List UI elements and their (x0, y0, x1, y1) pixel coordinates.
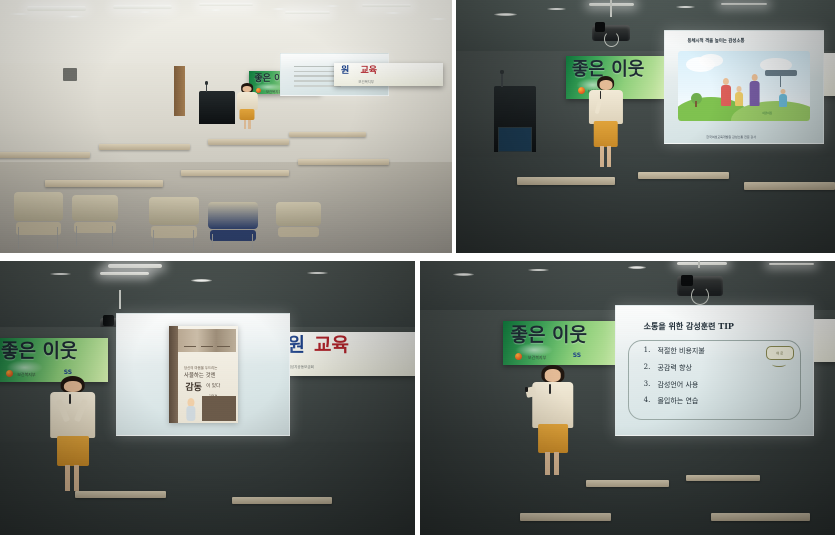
slide-title: 소통을 위한 감성훈련 TIP (644, 321, 734, 332)
chair (14, 192, 64, 248)
wall-speaker-icon (63, 68, 77, 81)
photo-panel-top-left: 좋은 이웃 보건복지부 원 교육 보건복지부 (0, 0, 452, 253)
banner-white-right: 원 교육 여성지공동모금회 (282, 332, 415, 376)
illustration-person (778, 89, 787, 107)
banner-green-left: 좋은 이웃 보건복지부 SS (503, 321, 628, 365)
projection-screen: 소통을 위한 감성훈련 TIP 1. 적절한 비용지불 2. 공감력 향상 3.… (615, 305, 814, 437)
chair (208, 202, 258, 253)
slide-item-number: 4. (644, 396, 651, 404)
slide-item-number: 3. (644, 380, 651, 388)
photo-collage: 좋은 이웃 보건복지부 원 교육 보건복지부 (0, 0, 835, 535)
wall-column (174, 66, 185, 117)
chair (72, 195, 117, 246)
slide-item-number: 2. (644, 363, 651, 371)
slide-item-text: 공감력 향상 (657, 363, 691, 373)
ceiling-projector (592, 15, 630, 43)
presenter-figure (532, 365, 574, 475)
banner-green-left: 좋은 이웃 보건복지부 SS (0, 338, 108, 382)
presenter-figure (589, 76, 623, 167)
podium-monitor (498, 127, 532, 152)
slide-item-text: 적절한 비용지불 (657, 346, 704, 356)
presenter-figure (50, 376, 96, 491)
presenter-figure (237, 83, 257, 129)
slide-book-cover: 당신의 마음을 두드리는 사물하는 것엔 감동 이 있다 김미경 (169, 326, 238, 423)
slide-item-text: 몰입하는 연습 (657, 396, 698, 406)
illustration-person (735, 86, 744, 105)
projection-screen: 동체시적 격을 높이는 감성소통 (664, 30, 823, 144)
projection-screen: 당신의 마음을 두드리는 사물하는 것엔 감동 이 있다 김미경 (116, 313, 290, 436)
book-cover-child-figure (185, 398, 196, 421)
lectern (199, 91, 235, 124)
slide-item-number: 1. (644, 346, 651, 354)
slide-stamp: 여 로 (766, 346, 794, 360)
ceiling-projector (677, 266, 723, 299)
photo-panel-bottom-right: 좋은 이웃 보건복지부 SS 원 여성지공동모금회 소통을 위한 감성훈련 TI… (420, 261, 835, 535)
photo-panel-top-right: 좋은 이웃 보건복지부 원 여성지공동모금회 동체시적 격을 높이는 감성소통 (456, 0, 835, 253)
illustration-person (720, 78, 732, 106)
photo-panel-bottom-left: 좋은 이웃 보건복지부 SS 원 교육 여성지공동모금회 (0, 261, 415, 535)
banner-white-right: 원 교육 보건복지부 (334, 63, 442, 86)
chair (276, 202, 321, 248)
chair (149, 197, 199, 250)
illustration-person (748, 74, 761, 106)
slide-item-text: 감성언어 사용 (657, 380, 698, 390)
slide-illustration: 어린이집 (678, 51, 810, 120)
